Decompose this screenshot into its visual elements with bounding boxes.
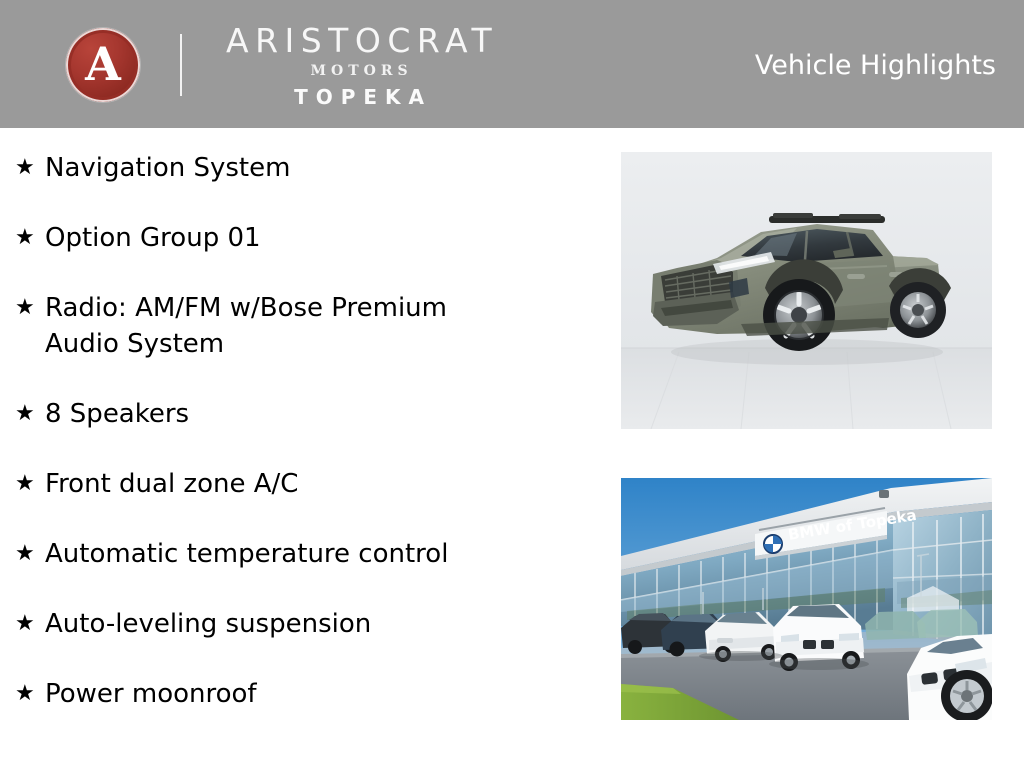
brand-divider [180, 34, 182, 96]
star-icon: ★ [14, 220, 45, 256]
list-item-label: 8 Speakers [45, 396, 189, 432]
brand-subtitle: MOTORS [306, 64, 413, 78]
star-icon: ★ [14, 466, 45, 502]
list-item: ★ Automatic temperature control [0, 536, 600, 572]
list-item: ★ 8 Speakers [0, 396, 600, 432]
list-item-label: Navigation System [45, 150, 290, 186]
brand-city: TOPEKA [286, 87, 432, 107]
list-item: ★ Navigation System [0, 150, 600, 186]
dealership-photo-graphic: BMW of Topeka [621, 478, 992, 720]
brand-logo: A ARISTOCRAT MOTORS TOPEKA [66, 26, 498, 104]
brand-name: ARISTOCRAT [220, 24, 498, 57]
list-item-label: Automatic temperature control [45, 536, 448, 572]
list-item: ★ Power moonroof [0, 676, 600, 712]
list-item-label: Front dual zone A/C [45, 466, 298, 502]
star-icon: ★ [14, 396, 45, 432]
vehicle-photo [621, 152, 992, 429]
vehicle-photo-graphic [621, 152, 992, 429]
vehicle-highlights-list: ★ Navigation System ★ Option Group 01 ★ … [0, 128, 600, 712]
list-item: ★ Radio: AM/FM w/Bose Premium Audio Syst… [0, 290, 600, 362]
list-item-label: Auto-leveling suspension [45, 606, 371, 642]
list-item-label: Radio: AM/FM w/Bose Premium Audio System [45, 290, 515, 362]
star-icon: ★ [14, 290, 45, 326]
list-item-label: Option Group 01 [45, 220, 261, 256]
list-item: ★ Front dual zone A/C [0, 466, 600, 502]
list-item: ★ Option Group 01 [0, 220, 600, 256]
page-header: A ARISTOCRAT MOTORS TOPEKA Vehicle Highl… [0, 0, 1024, 128]
emblem-letter: A [66, 28, 140, 102]
star-icon: ★ [14, 150, 45, 186]
list-item-label: Power moonroof [45, 676, 257, 712]
aristocrat-emblem-icon: A [66, 28, 140, 102]
star-icon: ★ [14, 606, 45, 642]
star-icon: ★ [14, 536, 45, 572]
dealership-photo: BMW of Topeka [621, 478, 992, 720]
star-icon: ★ [14, 676, 45, 712]
brand-wordmark: ARISTOCRAT MOTORS TOPEKA [220, 24, 498, 107]
page-title: Vehicle Highlights [755, 50, 996, 81]
list-item: ★ Auto-leveling suspension [0, 606, 600, 642]
